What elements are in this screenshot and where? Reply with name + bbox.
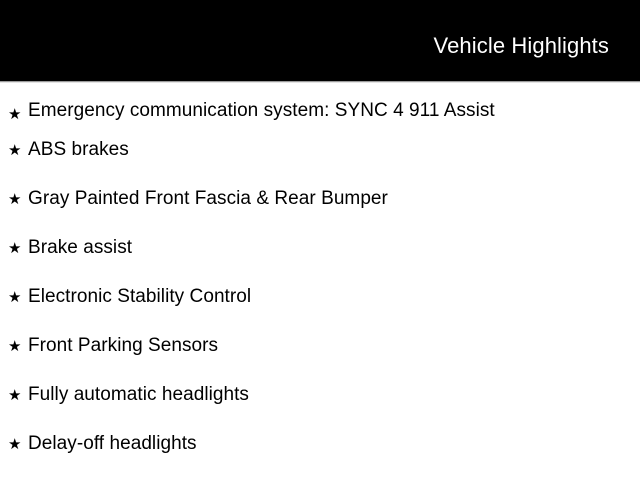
vehicle-highlights-list: ★ Emergency communication system: SYNC 4… [0,83,640,480]
star-icon: ★ [8,437,28,452]
page-title: Vehicle Highlights [434,35,609,57]
star-icon: ★ [8,339,28,354]
star-icon: ★ [8,388,28,403]
page-header: Vehicle Highlights [0,0,640,81]
list-item: ★ Delay-off headlights [0,420,640,469]
star-icon: ★ [8,192,28,207]
list-item: ★ Electronic Stability Control [0,273,640,322]
list-item: ★ Front Parking Sensors [0,322,640,371]
list-item: ★ ABS brakes [0,126,640,175]
list-item-label: ABS brakes [28,140,129,161]
list-item: ★ Gray Painted Front Fascia & Rear Bumpe… [0,175,640,224]
vehicle-highlights-page: Vehicle Highlights ★ Emergency communica… [0,0,640,480]
star-icon: ★ [8,290,28,305]
list-item-label: Delay-off headlights [28,434,197,455]
list-item: ★ Fully automatic headlights [0,371,640,420]
list-item-label: Front Parking Sensors [28,336,218,357]
list-item-label: Emergency communication system: SYNC 4 9… [28,101,495,122]
star-icon: ★ [8,107,28,122]
list-item: ★ Brake assist [0,224,640,273]
list-item: ★ Emergency communication system: SYNC 4… [0,83,640,126]
star-icon: ★ [8,143,28,158]
list-item-label: Fully automatic headlights [28,385,249,406]
list-item-label: Gray Painted Front Fascia & Rear Bumper [28,189,388,210]
list-item-label: Brake assist [28,238,132,259]
star-icon: ★ [8,241,28,256]
list-item-label: Electronic Stability Control [28,287,251,308]
